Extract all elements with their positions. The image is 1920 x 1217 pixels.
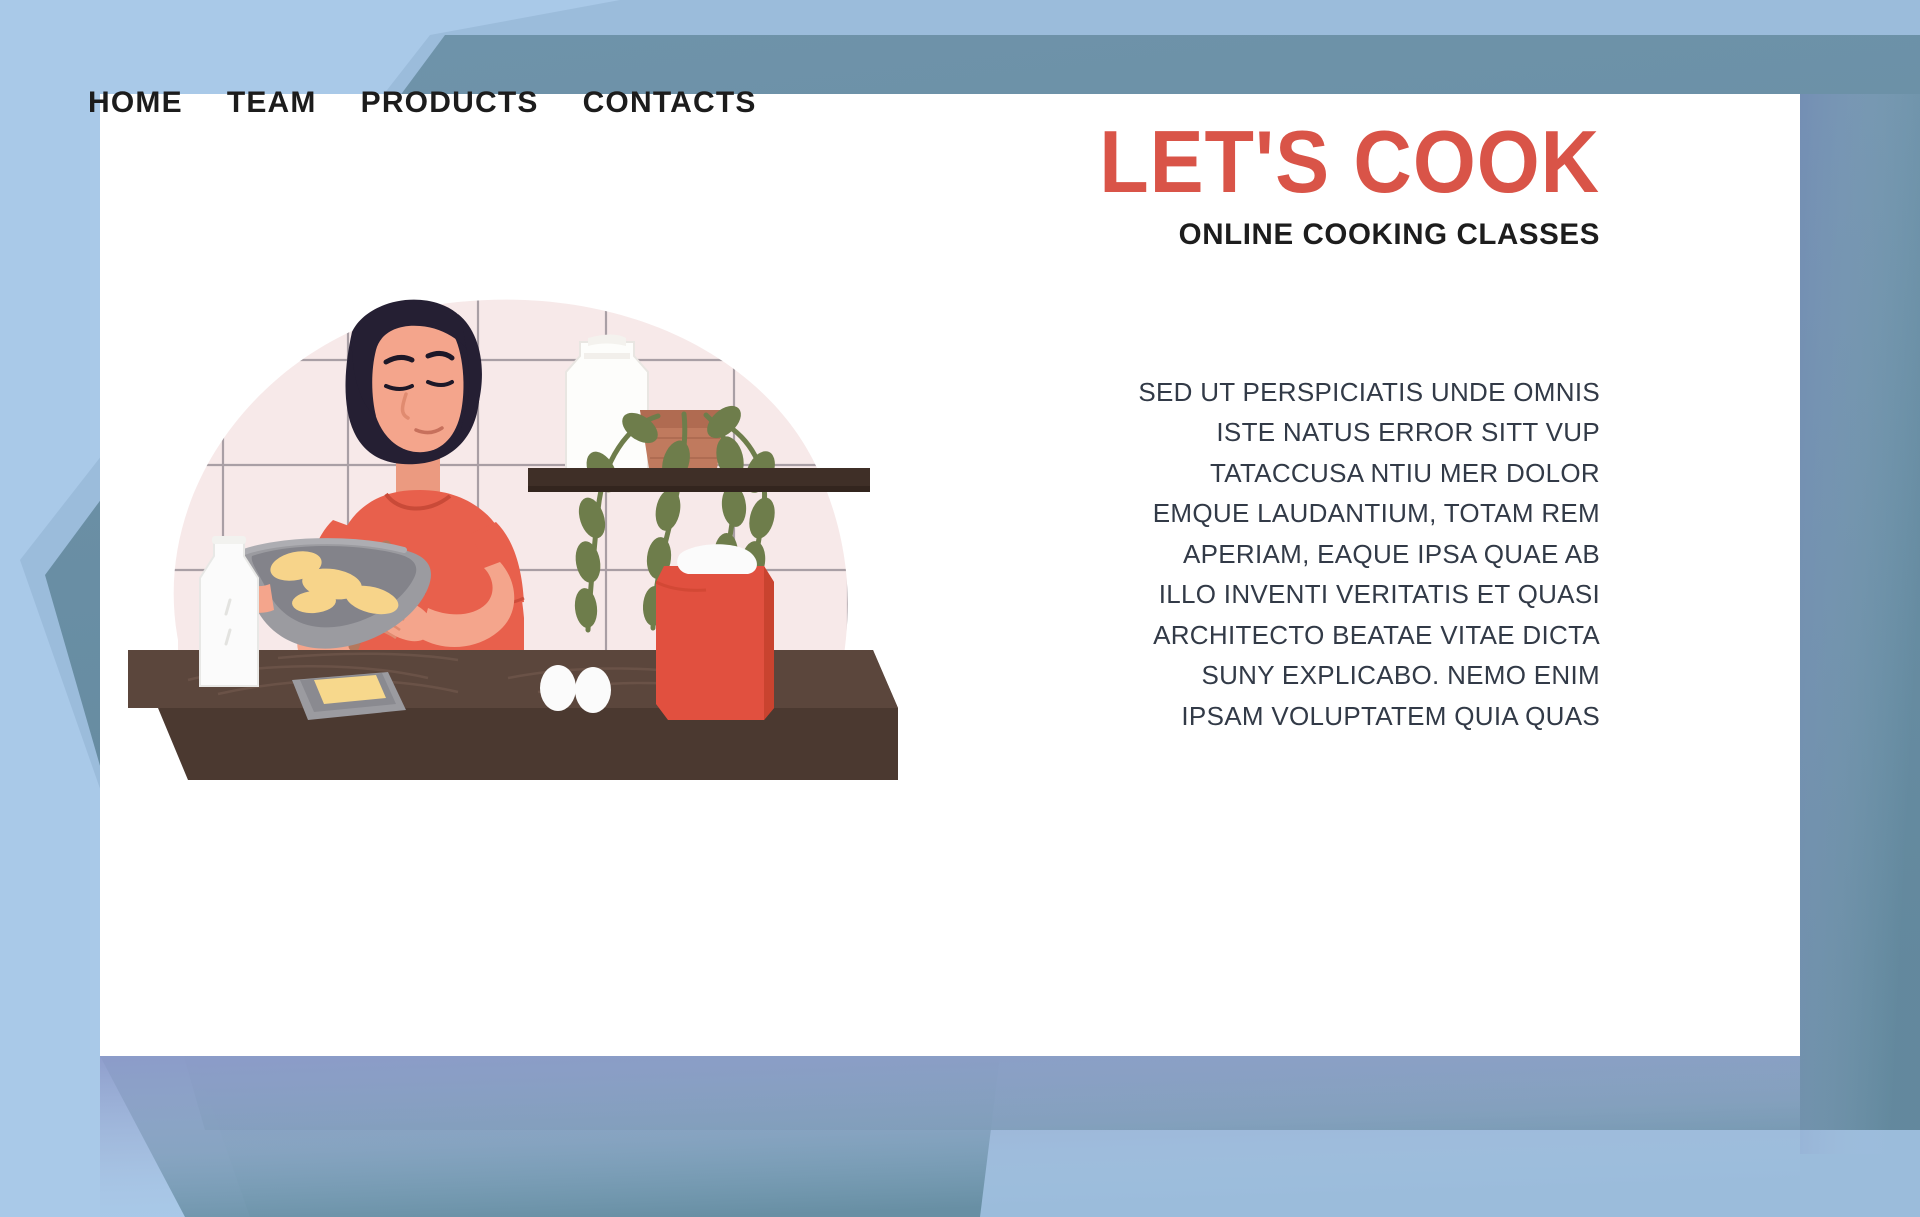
- body-line: SUNY EXPLICABO. NEMO ENIM: [1000, 655, 1600, 696]
- nav-item-home[interactable]: HOME: [88, 88, 183, 118]
- card-right-shadow: [1800, 94, 1920, 1154]
- wall-shelf: [528, 468, 870, 492]
- flour-bag: [656, 544, 774, 720]
- page-subtitle: ONLINE COOKING CLASSES: [1000, 218, 1600, 252]
- body-line: EMQUE LAUDANTIUM, TOTAM REM: [1000, 493, 1600, 534]
- head: [346, 300, 482, 465]
- body-line: ILLO INVENTI VERITATIS ET QUASI: [1000, 574, 1600, 615]
- body-line: ARCHITECTO BEATAE VITAE DICTA: [1000, 615, 1600, 656]
- body-line: APERIAM, EAQUE IPSA QUAE AB: [1000, 534, 1600, 575]
- body-line: ISTE NATUS ERROR SITT VUP: [1000, 412, 1600, 453]
- page-title: LET'S COOK: [1048, 120, 1600, 204]
- body-line: IPSAM VOLUPTATEM QUIA QUAS: [1000, 696, 1600, 737]
- nav-item-team[interactable]: TEAM: [227, 88, 317, 118]
- nav-item-products[interactable]: PRODUCTS: [361, 88, 539, 118]
- page-root: HOME TEAM PRODUCTS CONTACTS: [0, 0, 1920, 1217]
- nav-item-contacts[interactable]: CONTACTS: [583, 88, 757, 118]
- kitchen-illustration: [128, 210, 918, 790]
- hero-body-text: SED UT PERSPICIATIS UNDE OMNIS ISTE NATU…: [1000, 372, 1600, 737]
- main-navigation[interactable]: HOME TEAM PRODUCTS CONTACTS: [88, 88, 757, 118]
- body-line: SED UT PERSPICIATIS UNDE OMNIS: [1000, 372, 1600, 413]
- body-line: TATACCUSA NTIU MER DOLOR: [1000, 453, 1600, 494]
- card-bottom-shadow: [100, 1056, 1800, 1217]
- kitchen-illustration-svg: [128, 210, 918, 790]
- hero-text-column: LET'S COOK ONLINE COOKING CLASSES SED UT…: [1000, 120, 1600, 736]
